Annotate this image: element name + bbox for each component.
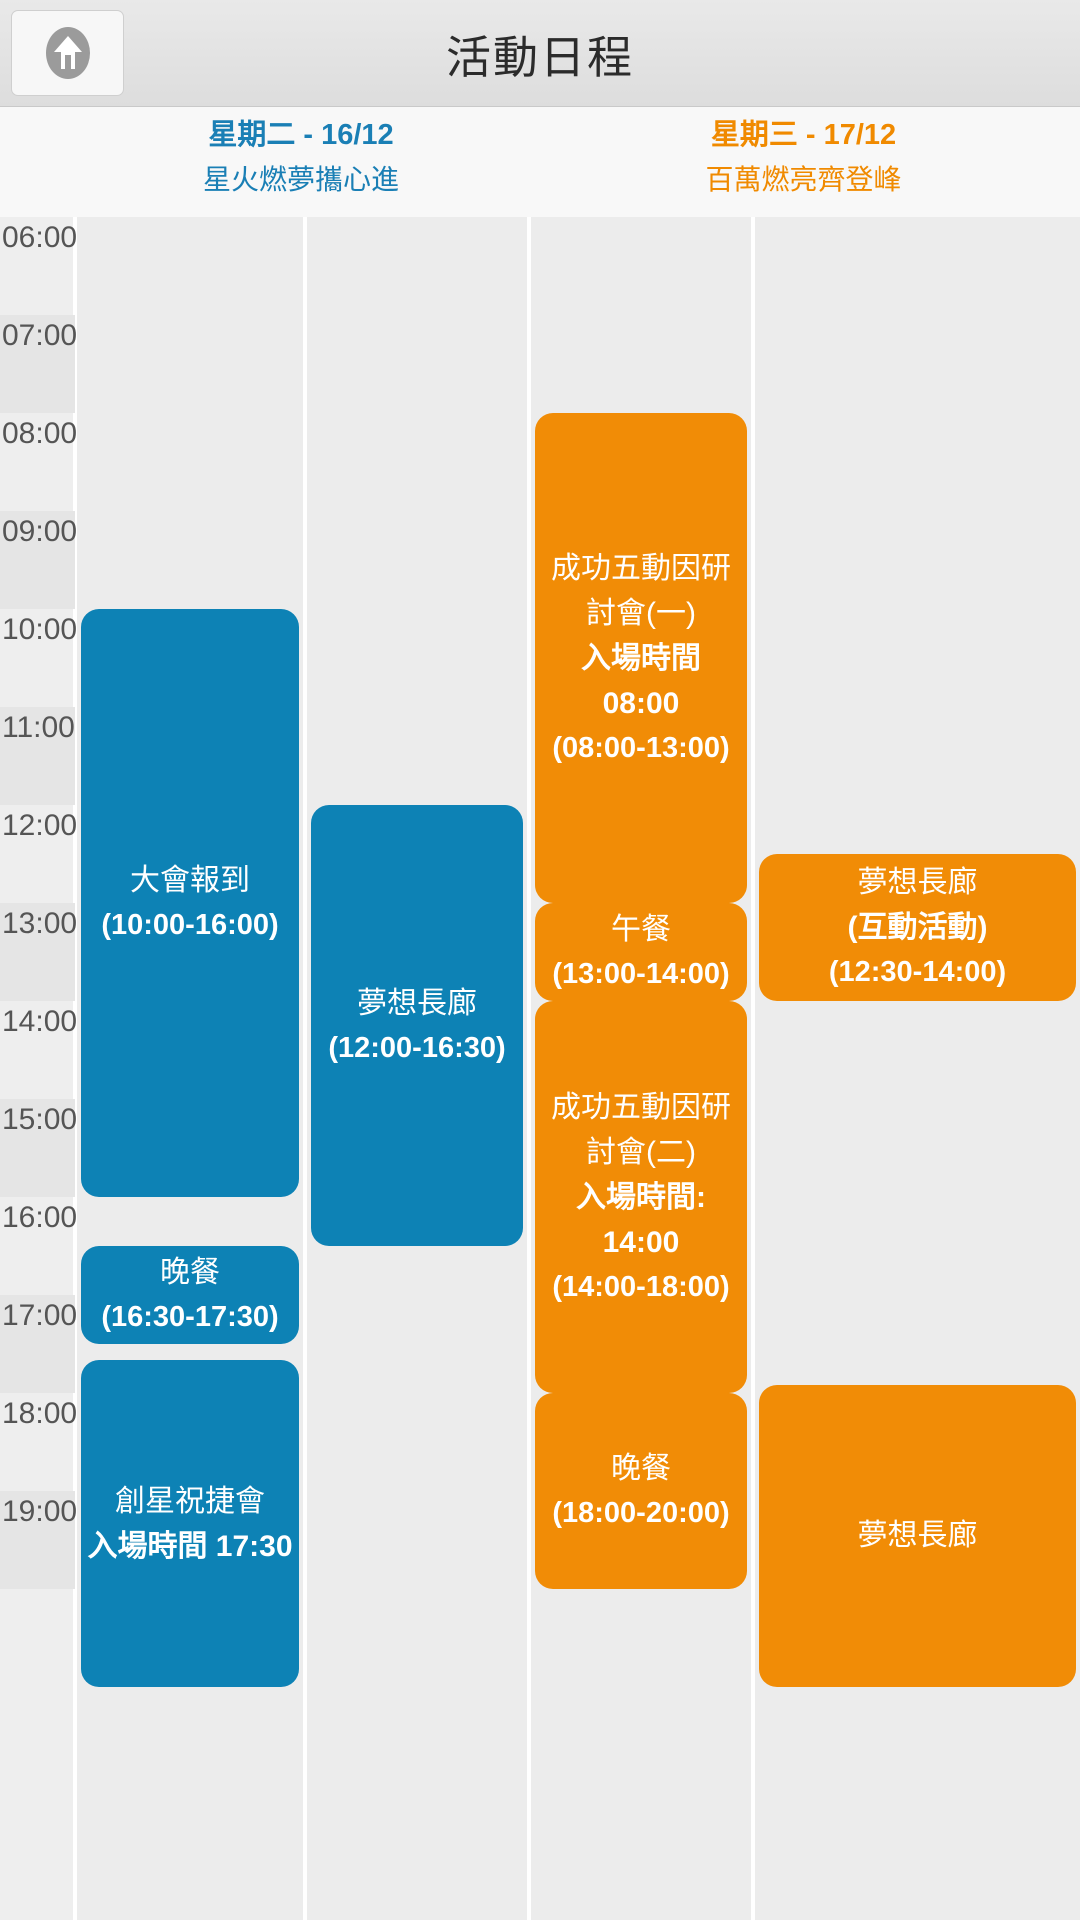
event-block[interactable]: 大會報到(10:00-16:00)	[81, 609, 299, 1197]
event-title: 晚餐	[611, 1446, 671, 1491]
event-time-range: (10:00-16:00)	[101, 903, 278, 948]
hour-label: 11:00	[0, 707, 75, 805]
hour-label: 10:00	[0, 609, 75, 707]
event-block[interactable]: 成功五動因研討會(一)入場時間 08:00(08:00-13:00)	[535, 413, 747, 903]
event-title: 夢想長廊	[858, 860, 978, 905]
day-header-tuesday[interactable]: 星期二 - 16/12 星火燃夢攜心進	[75, 107, 527, 217]
hour-label: 12:00	[0, 805, 75, 903]
event-time-range: (12:30-14:00)	[829, 950, 1006, 995]
day-header-row: 星期二 - 16/12 星火燃夢攜心進 星期三 - 17/12 百萬燃亮齊登峰	[0, 107, 1080, 217]
hour-label-text: 15:00	[2, 1099, 77, 1141]
hour-label-text: 17:00	[2, 1295, 77, 1337]
event-time-range: (14:00-18:00)	[552, 1265, 729, 1310]
event-time-range: (18:00-20:00)	[552, 1491, 729, 1536]
hour-label: 06:00	[0, 217, 75, 315]
event-title: 夢想長廊	[357, 981, 477, 1026]
event-entry-time: (互動活動)	[848, 905, 988, 950]
schedule-screen: 活動日程 星期二 - 16/12 星火燃夢攜心進 星期三 - 17/12 百萬燃…	[0, 0, 1080, 1920]
event-block[interactable]: 夢想長廊(互動活動)(12:30-14:00)	[759, 854, 1076, 1001]
event-title: 午餐	[611, 907, 671, 952]
time-gutter: 06:0007:0008:0009:0010:0011:0012:0013:00…	[0, 217, 75, 1920]
event-block[interactable]: 夢想長廊(12:00-16:30)	[311, 805, 523, 1246]
top-bar: 活動日程	[0, 0, 1080, 107]
event-time-range: (08:00-13:00)	[552, 726, 729, 771]
hour-label-text: 09:00	[2, 511, 77, 553]
hour-label: 16:00	[0, 1197, 75, 1295]
event-time-range: (12:00-16:30)	[328, 1026, 505, 1071]
hour-label-text: 10:00	[2, 609, 77, 651]
hour-label-text: 14:00	[2, 1001, 77, 1043]
event-block[interactable]: 晚餐(18:00-20:00)	[535, 1393, 747, 1589]
event-title: 創星祝捷會	[115, 1479, 265, 1524]
hour-label-text: 12:00	[2, 805, 77, 847]
hour-label: 14:00	[0, 1001, 75, 1099]
event-entry-time: 入場時間 17:30	[87, 1524, 292, 1569]
schedule-grid[interactable]: 06:0007:0008:0009:0010:0011:0012:0013:00…	[0, 217, 1080, 1920]
event-title: 大會報到	[130, 858, 250, 903]
day-title: 星期三 - 17/12	[711, 115, 896, 155]
event-block[interactable]: 成功五動因研討會(二)入場時間: 14:00(14:00-18:00)	[535, 1001, 747, 1393]
event-title: 成功五動因研討會(二)	[541, 1085, 741, 1175]
hour-label-text: 13:00	[2, 903, 77, 945]
hour-label: 19:00	[0, 1491, 75, 1589]
event-title: 夢想長廊	[858, 1513, 978, 1558]
day-title: 星期二 - 16/12	[208, 115, 393, 155]
hour-label-text: 19:00	[2, 1491, 77, 1533]
event-title: 晚餐	[160, 1250, 220, 1295]
hour-label-text: 16:00	[2, 1197, 77, 1239]
hour-label: 07:00	[0, 315, 75, 413]
day-header-wednesday[interactable]: 星期三 - 17/12 百萬燃亮齊登峰	[527, 107, 1080, 217]
hour-label: 08:00	[0, 413, 75, 511]
hour-label: 13:00	[0, 903, 75, 1001]
hour-label: 18:00	[0, 1393, 75, 1491]
day-subtitle: 星火燃夢攜心進	[203, 155, 399, 205]
hour-label: 17:00	[0, 1295, 75, 1393]
hour-label-text: 06:00	[2, 217, 77, 259]
page-title: 活動日程	[0, 0, 1080, 107]
event-title: 成功五動因研討會(一)	[541, 546, 741, 636]
event-block[interactable]: 午餐(13:00-14:00)	[535, 903, 747, 1001]
hour-label: 09:00	[0, 511, 75, 609]
event-block[interactable]: 創星祝捷會入場時間 17:30	[81, 1360, 299, 1687]
hour-label-text: 08:00	[2, 413, 77, 455]
event-entry-time: 入場時間: 14:00	[541, 1175, 741, 1265]
hour-label-text: 07:00	[2, 315, 77, 357]
event-time-range: (16:30-17:30)	[101, 1295, 278, 1340]
day-subtitle: 百萬燃亮齊登峰	[705, 155, 901, 205]
hour-label: 15:00	[0, 1099, 75, 1197]
hour-label-text: 11:00	[2, 707, 75, 749]
event-block[interactable]: 夢想長廊	[759, 1385, 1076, 1687]
event-entry-time: 入場時間 08:00	[541, 636, 741, 726]
hour-label-text: 18:00	[2, 1393, 77, 1435]
event-block[interactable]: 晚餐(16:30-17:30)	[81, 1246, 299, 1344]
event-time-range: (13:00-14:00)	[552, 952, 729, 997]
